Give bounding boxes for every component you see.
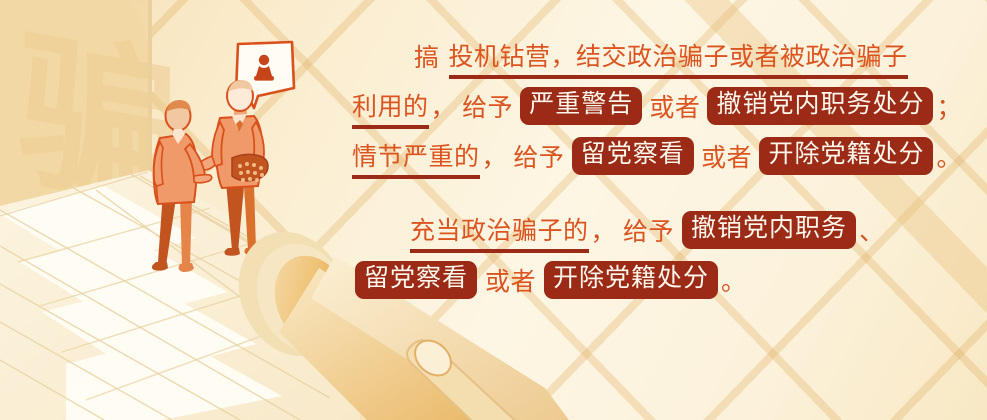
penalty-tag-probation-2[interactable]: 留党察看 [355, 261, 477, 299]
penalty-tag-remove-party-post[interactable]: 撤销党内职务处分 [707, 87, 933, 125]
text-line-1: 搞 投机钻营，结交政治骗子或者被政治骗子 [352, 34, 962, 78]
poster-canvas: 骗 [0, 0, 987, 420]
p2-period: 。 [721, 262, 747, 298]
p1-emphasis-1: 投机钻营，结交政治骗子或者被政治骗子 [449, 37, 908, 76]
p1-verb-1: 给予 [462, 88, 513, 124]
p1-semicolon: ； [936, 88, 962, 124]
p2-verb-1: 给予 [623, 212, 674, 248]
p1-lead: 搞 [414, 38, 440, 74]
penalty-tag-severe-warning[interactable]: 严重警告 [520, 87, 642, 125]
penalty-tag-expulsion-2[interactable]: 开除党籍处分 [544, 261, 718, 299]
p2-emphasis-1: 充当政治骗子的 [410, 211, 589, 250]
regulation-text-block: 搞 投机钻营，结交政治骗子或者被政治骗子 利用的 ， 给予 严重警告 或者 撤销… [352, 34, 962, 374]
p1-emphasis-3: 情节严重的 [352, 137, 480, 176]
p1-verb-2: 给予 [513, 138, 564, 174]
text-line-2: 利用的 ， 给予 严重警告 或者 撤销党内职务处分 ； [352, 84, 962, 128]
p1-period: 。 [936, 138, 962, 174]
p2-conj-1: 或者 [485, 262, 536, 298]
text-line-3: 情节严重的 ， 给予 留党察看 或者 开除党籍处分 。 [352, 134, 962, 178]
penalty-tag-remove-party-post-2[interactable]: 撤销党内职务 [682, 211, 856, 249]
p1-emphasis-2: 利用的 [352, 87, 429, 126]
penalty-tag-expulsion[interactable]: 开除党籍处分 [759, 137, 933, 175]
p1-conj-2: 或者 [701, 138, 752, 174]
penalty-tag-probation[interactable]: 留党察看 [572, 137, 694, 175]
p2-separator: 、 [859, 212, 885, 248]
p1-comma-1: ， [429, 88, 459, 124]
text-line-5: 留党察看 或者 开除党籍处分 。 [352, 258, 962, 302]
p1-conj-1: 或者 [649, 88, 700, 124]
text-line-4: 充当政治骗子的 ， 给予 撤销党内职务 、 [352, 208, 962, 252]
p1-comma-2: ， [480, 138, 510, 174]
p2-comma-1: ， [589, 212, 619, 248]
